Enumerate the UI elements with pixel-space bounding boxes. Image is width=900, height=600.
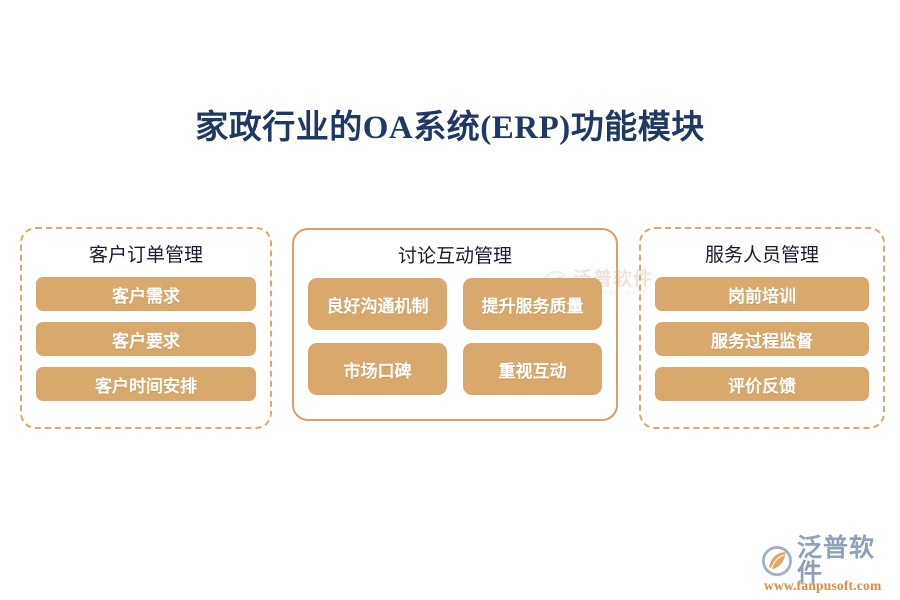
module-item[interactable]: 良好沟通机制 <box>308 278 447 330</box>
card-body: 良好沟通机制 提升服务质量 市场口碑 重视互动 <box>308 278 602 405</box>
card-body: 岗前培训 服务过程监督 评价反馈 <box>655 277 869 413</box>
card-body: 客户需求 客户要求 客户时间安排 <box>36 277 256 413</box>
module-item[interactable]: 重视互动 <box>463 343 602 395</box>
module-item[interactable]: 服务过程监督 <box>655 322 869 356</box>
brand-row: 泛普软件 <box>762 546 892 576</box>
module-item[interactable]: 评价反馈 <box>655 367 869 401</box>
card-title: 讨论互动管理 <box>294 241 616 268</box>
module-card-discussion-interaction-management[interactable]: 讨论互动管理 良好沟通机制 提升服务质量 市场口碑 重视互动 <box>292 228 618 421</box>
module-item[interactable]: 市场口碑 <box>308 343 447 395</box>
brand-url[interactable]: www.fanpusoft.com <box>762 578 892 594</box>
module-card-customer-order-management[interactable]: 客户订单管理 客户需求 客户要求 客户时间安排 <box>20 227 272 429</box>
slide-canvas: 家政行业的OA系统(ERP)功能模块 泛普软件 FANPU SOFTWARE 客… <box>0 0 900 600</box>
brand-logo[interactable]: 泛普软件 www.fanpusoft.com <box>762 546 892 592</box>
fanpu-logo-icon <box>762 546 792 576</box>
module-item[interactable]: 客户要求 <box>36 322 256 356</box>
module-item[interactable]: 岗前培训 <box>655 277 869 311</box>
module-card-service-staff-management[interactable]: 服务人员管理 岗前培训 服务过程监督 评价反馈 <box>639 227 885 429</box>
module-item[interactable]: 客户需求 <box>36 277 256 311</box>
pill-list: 客户需求 客户要求 客户时间安排 <box>36 277 256 401</box>
module-item[interactable]: 提升服务质量 <box>463 278 602 330</box>
module-item[interactable]: 客户时间安排 <box>36 367 256 401</box>
card-title: 服务人员管理 <box>641 240 883 267</box>
pill-list: 岗前培训 服务过程监督 评价反馈 <box>655 277 869 401</box>
module-cards-row: 客户订单管理 客户需求 客户要求 客户时间安排 讨论互动管理 良好沟通机制 提升… <box>0 0 900 600</box>
card-title: 客户订单管理 <box>22 240 270 267</box>
pill-grid: 良好沟通机制 提升服务质量 市场口碑 重视互动 <box>308 278 602 395</box>
